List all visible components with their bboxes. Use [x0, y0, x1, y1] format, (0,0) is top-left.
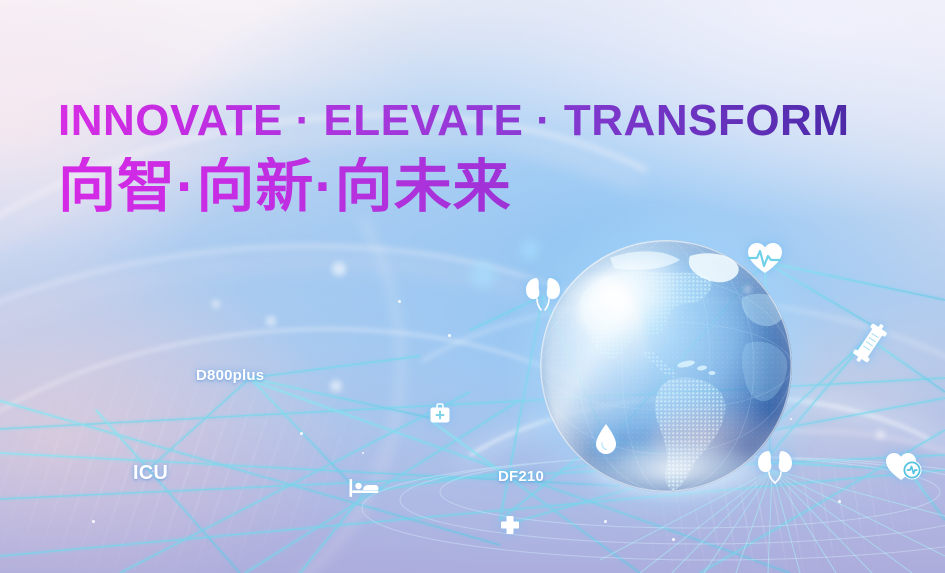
label-df210: DF210 [498, 468, 544, 485]
headline-block: INNOVATE · ELEVATE · TRANSFORM 向智·向新·向未来 [58, 99, 918, 218]
kidneys-icon-left [521, 270, 565, 314]
heart-pulse-icon-top [746, 240, 784, 278]
hero-banner: D800plus ICU DF210 INNOVATE · ELEVATE · … [0, 0, 945, 573]
headline-chinese: 向智·向新·向未来 [58, 157, 918, 218]
medical-cross-icon [500, 515, 520, 535]
label-icu: ICU [133, 462, 168, 485]
water-drop-icon [593, 423, 619, 455]
medical-bag-icon [429, 403, 451, 425]
kidneys-icon-bottom [755, 448, 795, 486]
hospital-bed-icon [349, 477, 379, 499]
label-d800plus: D800plus [196, 367, 264, 384]
headline-english: INNOVATE · ELEVATE · TRANSFORM [58, 99, 918, 143]
heart-ecg-icon [885, 450, 923, 482]
